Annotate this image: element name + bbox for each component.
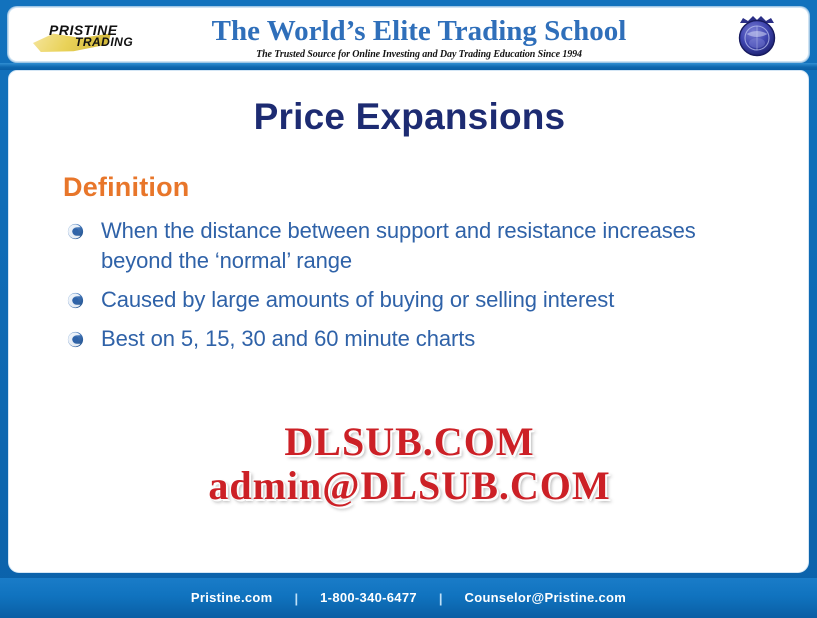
section-heading-definition: Definition — [63, 171, 189, 203]
swirl-bullet-icon — [67, 331, 84, 348]
watermark-email: admin@DLSUB.COM — [9, 465, 809, 507]
swirl-bullet-icon — [67, 292, 84, 309]
header-subtitle: The Trusted Source for Online Investing … — [169, 49, 669, 61]
definition-bullet-list: When the distance between support and re… — [63, 216, 763, 363]
header-band: PRISTINE TRADING The World’s Elite Tradi… — [8, 7, 809, 62]
list-item-label: When the distance between support and re… — [101, 218, 696, 273]
list-item: Caused by large amounts of buying or sel… — [63, 285, 763, 315]
watermark-site: DLSUB.COM — [9, 421, 809, 463]
footer-separator-1: | — [273, 591, 321, 606]
header-divider — [0, 63, 817, 70]
slide-body-panel: Price Expansions Definition — [8, 70, 809, 573]
pristine-crest-icon — [734, 12, 780, 59]
footer-bar: Pristine.com | 1-800-340-6477 | Counselo… — [0, 578, 817, 618]
watermark: DLSUB.COM admin@DLSUB.COM — [9, 421, 809, 508]
pristine-trading-logo: PRISTINE TRADING — [31, 17, 161, 55]
footer-separator-2: | — [417, 591, 465, 606]
footer-website[interactable]: Pristine.com — [191, 590, 273, 606]
page-title: Price Expansions — [9, 95, 809, 139]
list-item-label: Caused by large amounts of buying or sel… — [101, 287, 614, 312]
list-item: When the distance between support and re… — [63, 216, 763, 276]
slide-canvas: PRISTINE TRADING The World’s Elite Tradi… — [0, 0, 817, 618]
footer-phone[interactable]: 1-800-340-6477 — [320, 590, 417, 606]
swirl-bullet-icon — [67, 223, 84, 240]
list-item: Best on 5, 15, 30 and 60 minute charts — [63, 324, 763, 354]
header-title: The World’s Elite Trading School — [169, 15, 669, 47]
logo-text-trading: TRADING — [75, 36, 133, 48]
footer-email[interactable]: Counselor@Pristine.com — [465, 590, 627, 606]
footer-content: Pristine.com | 1-800-340-6477 | Counselo… — [0, 578, 817, 618]
list-item-label: Best on 5, 15, 30 and 60 minute charts — [101, 326, 475, 351]
